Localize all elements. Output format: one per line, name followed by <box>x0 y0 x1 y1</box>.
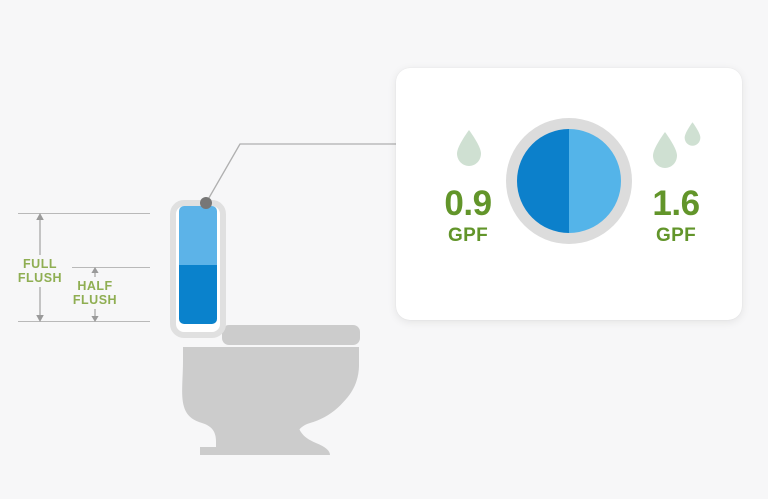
half-flush-top-rule <box>72 267 150 268</box>
tank-water-lower <box>179 265 217 324</box>
water-drop-small-icon <box>684 122 701 146</box>
metric-value: 0.9 <box>420 186 516 221</box>
drop-group-single <box>420 122 516 180</box>
toilet-seat <box>222 325 360 345</box>
metric-unit: GPF <box>420 226 516 245</box>
metric-full-flush: 1.6 GPF <box>628 122 724 245</box>
water-drop-icon <box>456 130 482 166</box>
callout-anchor-dot <box>200 197 212 209</box>
infographic-canvas: FULL FLUSH HALF FLUSH <box>0 0 768 499</box>
drop-group-double <box>628 122 724 180</box>
gpf-pie-chart <box>505 117 633 250</box>
tank-water-upper-top-round <box>179 206 217 215</box>
water-drop-icon <box>652 132 678 168</box>
toilet-illustration <box>150 185 380 455</box>
metric-half-flush: 0.9 GPF <box>420 122 516 245</box>
gpf-comparison-card[interactable]: 0.9 GPF <box>396 68 742 320</box>
full-flush-label: FULL FLUSH <box>12 255 68 287</box>
half-flush-bottom-rule <box>72 321 150 322</box>
tank-water-upper <box>179 215 217 265</box>
metric-value: 1.6 <box>628 186 724 221</box>
metric-unit: GPF <box>628 226 724 245</box>
half-flush-label: HALF FLUSH <box>64 277 126 309</box>
